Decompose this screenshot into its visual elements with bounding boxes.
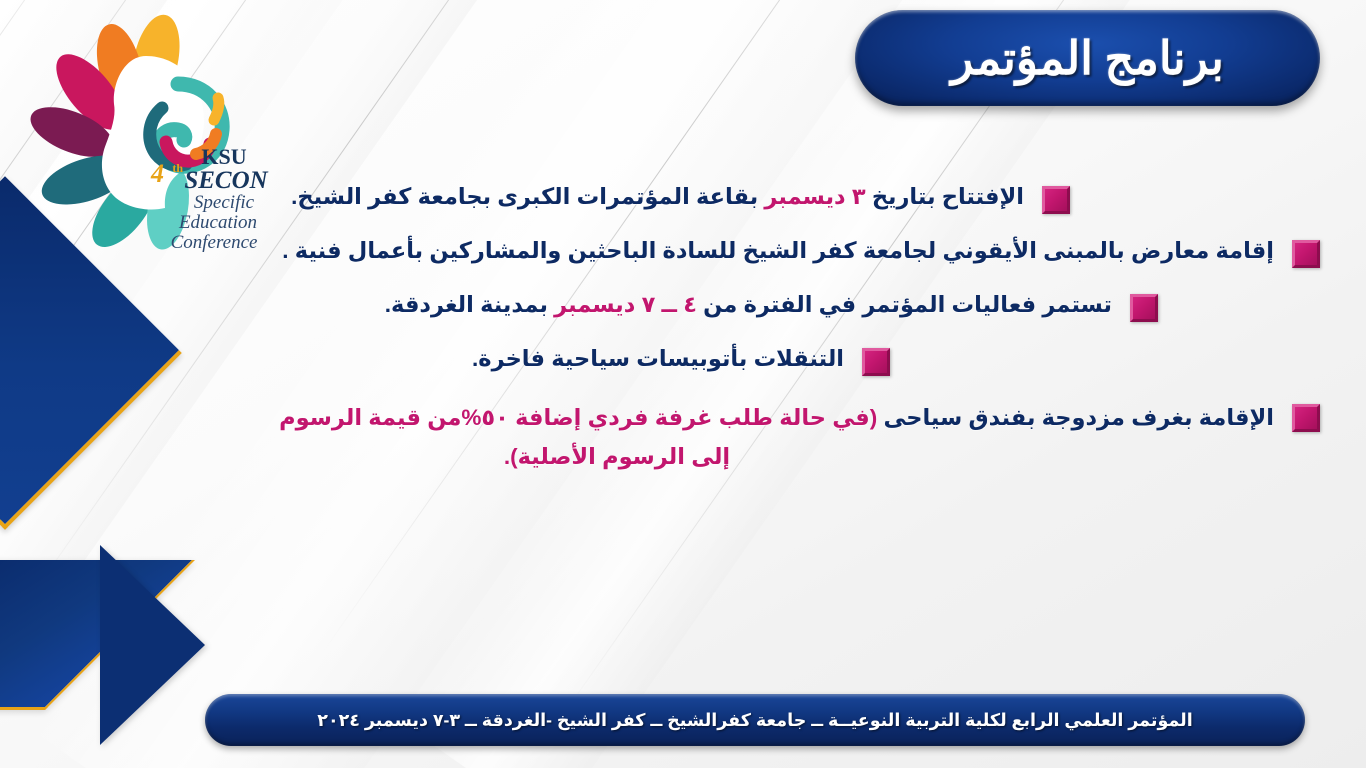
bullet-segment: الإقامة بغرف مزدوجة بفندق سياحى [877,405,1274,430]
pink-square-bullet-icon [1130,294,1158,322]
gold-triangle-outline-decoration [100,541,210,749]
bullet-segment: بمدينة الغردقة. [385,292,554,317]
navy-triangle-decoration [100,545,205,745]
list-item: الإقامة بغرف مزدوجة بفندق سياحى (في حالة… [20,398,1320,477]
bullet-segment-highlight-line2: إلى الرسوم الأصلية). [20,437,1274,476]
bullet-accommodation-text: الإقامة بغرف مزدوجة بفندق سياحى (في حالة… [20,398,1278,477]
list-item: الإفتتاح بتاريخ ٣ ديسمبر بقاعة المؤتمرات… [20,180,1070,214]
logo-text-ksu: KSU [201,144,246,169]
slide-title-banner: برنامج المؤتمر [855,10,1320,106]
pink-square-bullet-icon [1292,240,1320,268]
bullet-segment: الإفتتاح بتاريخ [866,184,1024,209]
pink-square-bullet-icon [1292,404,1320,432]
bullet-segment: إقامة معارض بالمبنى الأيقوني لجامعة كفر … [282,238,1274,263]
bullet-exhibition-text: إقامة معارض بالمبنى الأيقوني لجامعة كفر … [20,234,1278,268]
bullet-segment: التنقلات بأتوبيسات سياحية فاخرة. [472,346,844,371]
list-item: إقامة معارض بالمبنى الأيقوني لجامعة كفر … [20,234,1320,268]
footer-banner: المؤتمر العلمي الرابع لكلية التربية النو… [205,694,1305,746]
presentation-slide: KSU 4 th SECON Specific Education Confer… [0,0,1366,768]
pink-square-bullet-icon [1042,186,1070,214]
bullet-duration-text: تستمر فعاليات المؤتمر في الفترة من ٤ ــ … [20,288,1116,322]
program-bullet-list: الإفتتاح بتاريخ ٣ ديسمبر بقاعة المؤتمرات… [20,180,1320,497]
logo-text-ordinal-suffix: th [172,161,183,175]
list-item: تستمر فعاليات المؤتمر في الفترة من ٤ ــ … [20,288,1158,322]
navy-parallelogram-decoration [0,560,195,710]
bullet-transport-text: التنقلات بأتوبيسات سياحية فاخرة. [20,342,848,376]
bullet-segment: تستمر فعاليات المؤتمر في الفترة من [697,292,1112,317]
slide-title-text: برنامج المؤتمر [951,31,1224,85]
list-item: التنقلات بأتوبيسات سياحية فاخرة. [20,342,890,376]
pink-square-bullet-icon [862,348,890,376]
bullet-segment-highlight: ٣ ديسمبر [764,184,865,209]
bullet-segment: بقاعة المؤتمرات الكبرى بجامعة كفر الشيخ. [291,184,764,209]
footer-banner-text: المؤتمر العلمي الرابع لكلية التربية النو… [317,710,1192,731]
bullet-segment-highlight: (في حالة طلب غرفة فردي إضافة ٥٠%من قيمة … [279,405,877,430]
bullet-segment-highlight: ٤ ــ ٧ ديسمبر [554,292,697,317]
bullet-opening-text: الإفتتاح بتاريخ ٣ ديسمبر بقاعة المؤتمرات… [20,180,1028,214]
